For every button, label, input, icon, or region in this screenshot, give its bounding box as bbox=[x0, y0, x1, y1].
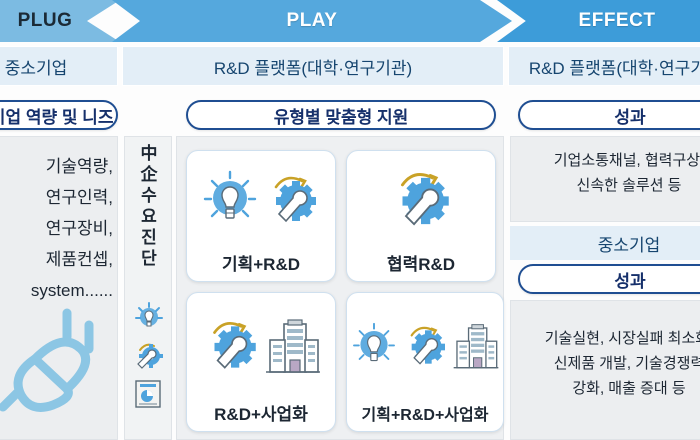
effect-top-text: 기업소통채널, 협력구상, 신속한 솔루션 등 bbox=[510, 148, 700, 198]
pill-plug-capability-label: 중소기업 역량 및 니즈 bbox=[0, 103, 113, 128]
pill-effect-outcome-bottom-label: 성과 bbox=[614, 267, 645, 292]
stage-header-effect[interactable]: EFFECT bbox=[497, 0, 700, 42]
subtitle-band-effect: R&D 플랫폼(대학·연구기관) bbox=[508, 46, 700, 86]
stage-header-effect-label: EFFECT bbox=[579, 10, 656, 32]
pill-play-support[interactable]: 유형별 맞춤형 지원 bbox=[186, 100, 496, 130]
pill-effect-outcome-top-label: 성과 bbox=[614, 103, 645, 128]
play-card-planning-rnd-commercialization[interactable]: 기획+R&D+사업화 bbox=[346, 292, 504, 432]
play-card-cooperative-rnd-label: 협력R&D bbox=[387, 250, 455, 275]
infographic-root: PLUG PLAY EFFECT 중소기업 R&D 플랫폼(대학·연구기관) R… bbox=[0, 0, 700, 440]
stage-header-plug[interactable]: PLUG bbox=[0, 0, 120, 42]
demand-diagnosis-icon-stack bbox=[125, 301, 173, 415]
panel-demand-diagnosis: 中 企 수 요 진 단 bbox=[124, 136, 172, 440]
plug-capability-line: 연구장비, bbox=[0, 213, 113, 244]
plug-capability-line: 제품컨셉, bbox=[0, 244, 113, 275]
lightbulb-icon bbox=[125, 301, 173, 335]
gear-wrench-icon bbox=[262, 169, 322, 233]
lightbulb-icon bbox=[200, 169, 260, 233]
pill-effect-outcome-bottom[interactable]: 성과 bbox=[518, 264, 700, 294]
subtitle-play-label: R&D 플랫폼(대학·연구기관) bbox=[214, 54, 412, 79]
pill-effect-outcome-top[interactable]: 성과 bbox=[518, 100, 700, 130]
demand-diagnosis-char: 수 bbox=[125, 185, 173, 206]
gear-wrench-icon bbox=[400, 317, 450, 377]
play-card-cooperative-rnd[interactable]: 협력R&D bbox=[346, 150, 496, 282]
gear-wrench-icon bbox=[200, 314, 262, 380]
demand-diagnosis-char: 企 bbox=[125, 164, 173, 185]
play-card-planning-rnd-icons bbox=[200, 151, 322, 250]
pill-play-support-label: 유형별 맞춤형 지원 bbox=[274, 103, 409, 128]
plug-icon bbox=[0, 297, 105, 417]
subtitle-plug-label: 중소기업 bbox=[5, 54, 68, 79]
play-card-planning-rnd-commercialization-icons bbox=[350, 293, 500, 401]
effect-top-line: 기업소통채널, 협력구상, bbox=[510, 148, 700, 173]
stage-header-plug-label: PLUG bbox=[18, 10, 73, 32]
plug-capability-line: 연구인력, bbox=[0, 182, 113, 213]
demand-diagnosis-char: 단 bbox=[125, 248, 173, 269]
building-icon bbox=[452, 317, 500, 377]
play-card-rnd-commercialization-label: R&D+사업화 bbox=[214, 400, 308, 425]
plug-capability-line: 기술역량, bbox=[0, 151, 113, 182]
demand-diagnosis-char: 中 bbox=[125, 143, 173, 164]
gear-wrench-icon bbox=[125, 339, 173, 373]
demand-diagnosis-char: 진 bbox=[125, 227, 173, 248]
subtitle-effect-label: R&D 플랫폼(대학·연구기관) bbox=[529, 54, 700, 79]
demand-diagnosis-label: 中 企 수 요 진 단 bbox=[125, 143, 173, 269]
play-card-rnd-commercialization-icons bbox=[200, 293, 322, 400]
play-card-planning-rnd[interactable]: 기획+R&D bbox=[186, 150, 336, 282]
pill-plug-capability[interactable]: 중소기업 역량 및 니즈 bbox=[0, 100, 118, 130]
effect-bottom-line: 신제품 개발, 기술경쟁력 bbox=[510, 351, 700, 376]
play-card-cooperative-rnd-icons bbox=[385, 151, 457, 250]
effect-bottom-line: 기술실현, 시장실패 최소화, bbox=[510, 326, 700, 351]
subtitle-band-plug: 중소기업 bbox=[0, 46, 118, 86]
gear-wrench-icon bbox=[385, 164, 457, 238]
demand-diagnosis-char: 요 bbox=[125, 206, 173, 227]
stage-header-bar: PLUG PLAY EFFECT bbox=[0, 0, 700, 42]
lightbulb-icon bbox=[350, 317, 398, 377]
stage-header-play[interactable]: PLAY bbox=[112, 0, 512, 42]
effect-bottom-text: 기술실현, 시장실패 최소화, 신제품 개발, 기술경쟁력 강화, 매출 증대 … bbox=[510, 326, 700, 401]
effect-mid-band: 중소기업 bbox=[510, 226, 700, 260]
building-icon bbox=[264, 314, 322, 380]
play-card-rnd-commercialization[interactable]: R&D+사업화 bbox=[186, 292, 336, 432]
report-chart-icon bbox=[125, 377, 173, 411]
plug-capability-list: 기술역량, 연구인력, 연구장비, 제품컨셉, system...... bbox=[0, 151, 119, 306]
subtitle-band-play: R&D 플랫폼(대학·연구기관) bbox=[122, 46, 504, 86]
effect-bottom-line: 강화, 매출 증대 등 bbox=[510, 376, 700, 401]
play-card-planning-rnd-commercialization-label: 기획+R&D+사업화 bbox=[362, 401, 489, 425]
stage-header-play-label: PLAY bbox=[287, 10, 338, 32]
play-card-planning-rnd-label: 기획+R&D bbox=[222, 250, 300, 275]
effect-top-line: 신속한 솔루션 등 bbox=[510, 173, 700, 198]
panel-plug: 기술역량, 연구인력, 연구장비, 제품컨셉, system...... bbox=[0, 136, 118, 440]
effect-mid-band-label: 중소기업 bbox=[598, 231, 661, 256]
